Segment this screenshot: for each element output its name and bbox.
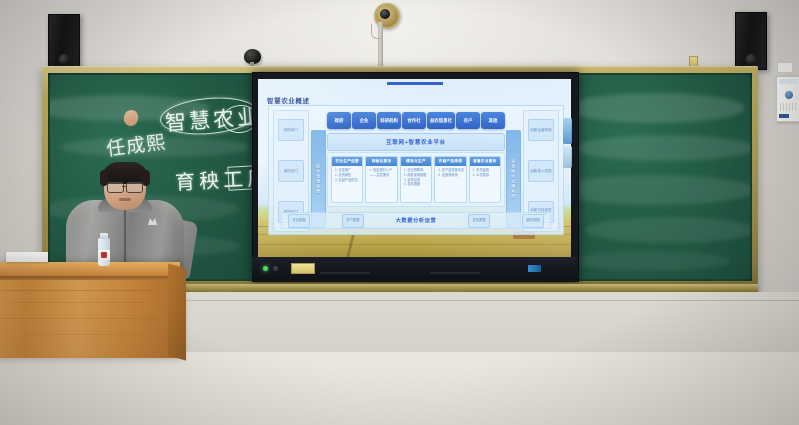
display-side-button-bottom[interactable] [563,146,572,168]
power-button[interactable] [273,266,278,271]
module-header: 农副产品溯源 [435,157,465,166]
module-list: 1. 信息进村入户 —— 益农服务 [366,166,396,178]
gov-cell-1[interactable]: 政府部门 [278,119,304,141]
display-vent [320,272,370,274]
platform-bar: 互联网+智慧农业平台 [327,133,505,151]
display-vent [430,272,480,274]
power-led-icon [263,266,268,271]
control-box-grill [780,103,797,111]
module-list: 1. 农业物联网 2. 精准灌溉施肥 3. 农事记录 4. 农机调度 [401,166,431,187]
stakeholder-pill[interactable]: 合作社 [402,112,426,129]
control-box-label [779,79,798,84]
speaker-cone-icon [746,54,757,65]
wall-wire [371,24,381,39]
module-list: 1. 农产品质量安全 2. 全追溯系统 [435,166,465,178]
module-list: 1. 农技推广 2. 农资销售 3. 农副产品供应 [332,166,362,182]
wall-outlet[interactable] [777,62,793,73]
wall-control-box[interactable] [776,76,799,122]
module-card[interactable]: 精准化生产 1. 农业物联网 2. 精准灌溉施肥 3. 农事记录 4. 农机调度 [400,156,432,203]
blackboard-panel-right [575,75,750,279]
data-cell[interactable]: 农情数据 [468,214,490,228]
module-row: 农业生产经营 1. 农技推广 2. 农资销售 3. 农副产品供应 网格化服务 1… [327,152,505,207]
module-item: 2. 精准灌溉施肥 [404,173,429,178]
slide-title: 智慧农业概述 [267,95,310,105]
slide-content: 智慧农业概述 政府部门 政府部门 政府部门 创新运营机制 创新投入机制 创新可持… [258,79,571,257]
display-sticker [291,263,315,274]
stakeholder-pill[interactable]: 科研机构 [377,112,401,129]
control-box-knob-icon[interactable] [785,91,793,99]
lecturer-hair-side [142,170,150,186]
glasses-bridge [122,186,126,187]
lecturer-mouth [119,198,131,201]
innovation-cell-2[interactable]: 创新投入机制 [528,160,554,182]
glasses-lens-left [107,182,124,193]
gov-cell-2-label: 政府部门 [284,169,298,173]
paper-sheet [6,252,48,262]
stakeholder-pill[interactable]: 益农信息社 [427,112,455,129]
stakeholder-pill[interactable]: 农户 [456,112,480,129]
control-box-tag [779,114,789,118]
module-header: 网格化服务 [366,157,396,166]
gov-cell-2[interactable]: 政府部门 [278,160,304,182]
stakeholder-row: 政府 企业 科研机构 合作社 益农信息社 农户 其他 [327,111,505,130]
module-item: 4. 农机调度 [404,182,429,187]
lecturer [60,162,190,274]
slide-accent-bar [387,82,443,85]
module-item: —— 益农服务 [369,173,394,178]
module-card[interactable]: 网格化服务 1. 信息进村入户 —— 益农服务 [365,156,397,203]
speaker-cone-icon [59,54,70,65]
display-side-button-top[interactable] [563,118,572,144]
module-item: 3. 农副产品供应 [335,178,360,183]
gov-cell-1-label: 政府部门 [284,128,298,132]
glasses-lens-right [126,182,143,193]
innovation-cell-2-label: 创新投入机制 [530,169,552,173]
bigdata-label: 大数据分析运营 [396,217,437,224]
module-header: 普惠农业服务 [470,157,500,166]
module-list: 1. 农村金融 2. 乡村旅游 [470,166,500,178]
wall-bell-center [380,9,390,19]
module-card[interactable]: 农业生产经营 1. 农技推广 2. 农资销售 3. 农副产品供应 [331,156,363,203]
module-header: 精准化生产 [401,157,431,166]
student-audience [0,296,799,425]
innovation-cell-1[interactable]: 创新运营机制 [528,119,554,141]
classroom-scene: 任成熙 智慧农业 育秧工厂 智慧农业概述 政府部门 政府部门 政府部门 创新运营… [0,0,799,425]
module-card[interactable]: 农副产品溯源 1. 农产品质量安全 2. 全追溯系统 [434,156,466,203]
data-cell[interactable]: 服务数据 [522,214,544,228]
stakeholder-pill[interactable]: 企业 [352,112,376,129]
stakeholder-pill[interactable]: 其他 [481,112,505,129]
data-cell[interactable]: 农业数据 [288,214,310,228]
display-badge [528,265,541,272]
slide-diagram: 政府部门 政府部门 政府部门 创新运营机制 创新投入机制 创新可持续发展机制 综… [268,105,564,235]
module-header: 农业生产经营 [332,157,362,166]
module-item: 2. 乡村旅游 [473,173,498,178]
podium-edge [0,276,180,280]
bottle-label [98,250,110,260]
innovation-cell-1-label: 创新运营机制 [530,128,552,132]
stakeholder-pill[interactable]: 政府 [327,112,351,129]
data-cell[interactable]: 农户数据 [342,214,364,228]
module-card[interactable]: 普惠农业服务 1. 农村金融 2. 乡村旅游 [469,156,501,203]
bigdata-row: 农业数据 农户数据 大数据分析运营 农情数据 服务数据 [281,212,551,229]
module-item: 2. 全追溯系统 [438,173,463,178]
speaker-right [735,12,767,70]
speaker-left [48,14,80,70]
bottle-cap [100,233,108,239]
